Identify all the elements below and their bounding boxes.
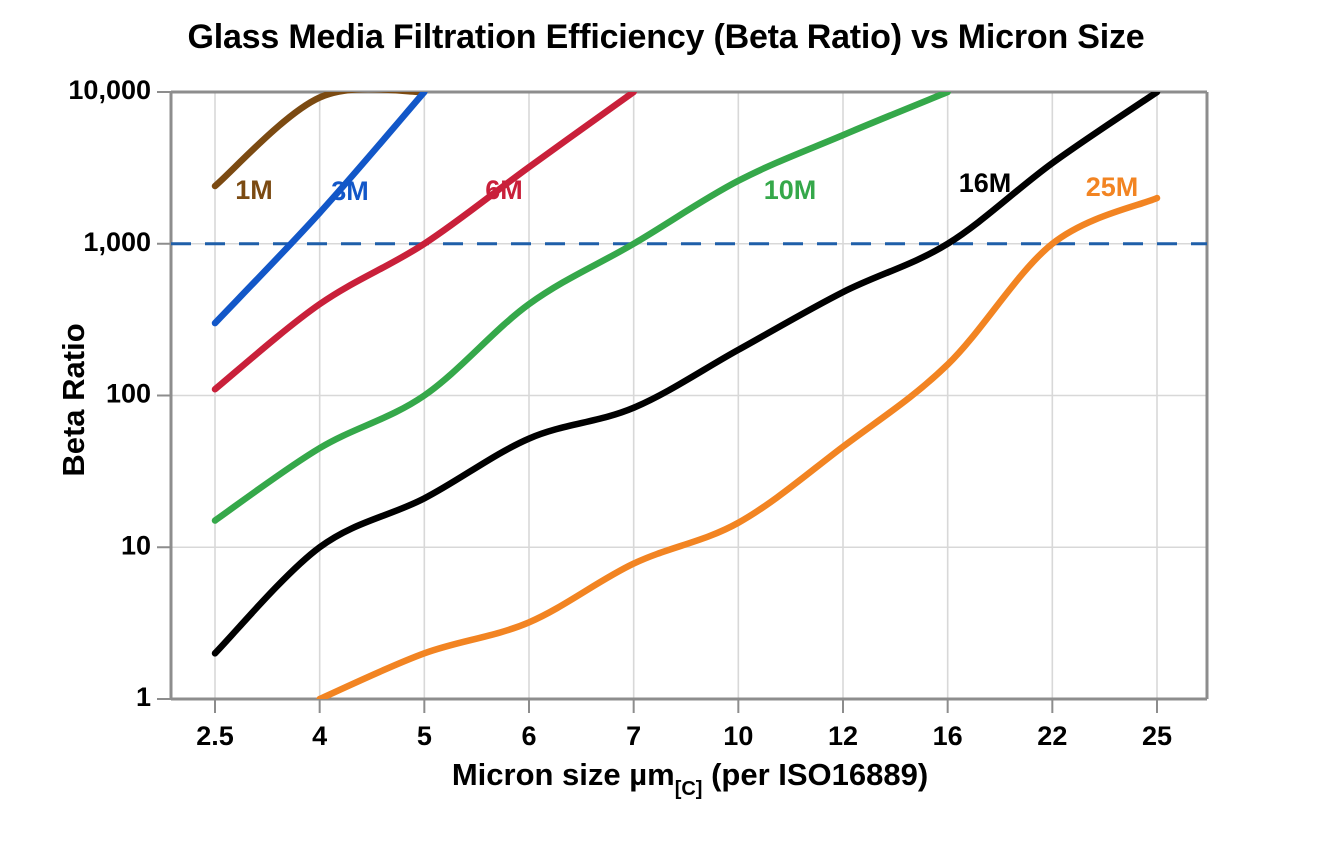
series-curve-10M — [215, 92, 948, 521]
x-axis-title-subscript: [C] — [675, 778, 703, 800]
x-tick-label-16: 16 — [933, 721, 963, 751]
x-tick-label-7: 7 — [626, 721, 641, 751]
series-label-6M: 6M — [485, 175, 523, 205]
beta-ratio-line-chart: 1101001,00010,000 2.545671012162225 1M3M… — [0, 0, 1332, 842]
x-tick-label-25: 25 — [1142, 721, 1172, 751]
x-tick-label-6: 6 — [521, 721, 536, 751]
x-tick-label-2.5: 2.5 — [196, 721, 234, 751]
y-axis-title: Beta Ratio — [56, 323, 91, 476]
y-tick-label-1: 1 — [136, 682, 151, 712]
x-axis-tick-labels: 2.545671012162225 — [196, 721, 1172, 751]
series-label-1M: 1M — [235, 175, 273, 205]
series-label-3M: 3M — [331, 176, 369, 206]
series-label-25M: 25M — [1086, 172, 1139, 202]
y-tick-label-10: 10 — [121, 530, 151, 560]
x-tick-label-4: 4 — [312, 721, 327, 751]
series-label-10M: 10M — [764, 175, 817, 205]
x-tick-label-12: 12 — [828, 721, 858, 751]
gridlines — [171, 92, 1207, 699]
series-label-16M: 16M — [959, 168, 1012, 198]
y-tick-label-10000: 10,000 — [68, 75, 151, 105]
x-axis-title: Micron size µm[C] (per ISO16889) — [452, 757, 928, 800]
y-tick-label-100: 100 — [106, 379, 151, 409]
x-tick-label-10: 10 — [723, 721, 753, 751]
x-axis-title-main: Micron size µm — [452, 757, 675, 792]
x-tick-label-22: 22 — [1037, 721, 1067, 751]
chart-canvas: Glass Media Filtration Efficiency (Beta … — [0, 0, 1332, 842]
x-axis-title-tail: (per ISO16889) — [702, 757, 928, 792]
y-tick-label-1000: 1,000 — [83, 227, 151, 257]
x-tick-label-5: 5 — [417, 721, 432, 751]
